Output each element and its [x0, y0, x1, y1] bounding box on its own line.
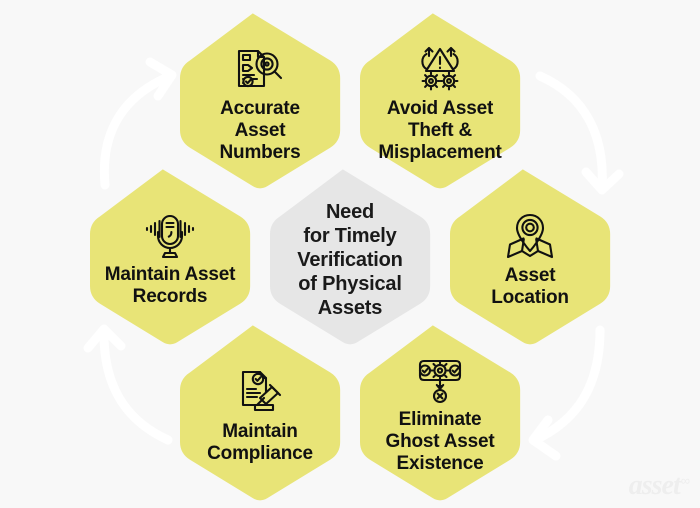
hex-label: Eliminate Ghost Asset Existence [385, 409, 494, 475]
hex-maintain-compliance[interactable]: Maintain Compliance [172, 318, 348, 508]
hex-accurate-asset-numbers[interactable]: Accurate Asset Numbers [172, 6, 348, 202]
center-label: Need for Timely Verification of Physical… [297, 200, 402, 320]
gear-process-cancel-icon [412, 357, 468, 405]
hex-label: Accurate Asset Numbers [220, 98, 301, 164]
map-pin-icon [504, 211, 556, 261]
document-magnifier-icon [234, 44, 286, 94]
infinity-icon: ∞ [681, 474, 690, 487]
warning-gears-icon [413, 44, 467, 94]
hex-label: Maintain Compliance [207, 421, 313, 465]
document-gavel-icon [233, 367, 287, 417]
hex-center-need-for-timely-verification: Need for Timely Verification of Physical… [262, 162, 438, 358]
hex-label: Maintain Asset Records [105, 264, 236, 308]
hex-asset-location[interactable]: Asset Location [442, 162, 618, 358]
watermark-logo: asset ∞ [629, 472, 690, 500]
hex-maintain-asset-records[interactable]: Maintain Asset Records [82, 162, 258, 358]
hex-avoid-asset-theft-misplacement[interactable]: Avoid Asset Theft & Misplacement [352, 6, 528, 202]
hex-eliminate-ghost-asset-existence[interactable]: Eliminate Ghost Asset Existence [352, 318, 528, 508]
watermark-text: asset [629, 472, 680, 500]
infographic-canvas: Accurate Asset Numbers [0, 0, 700, 508]
microphone-icon [141, 212, 199, 260]
hex-label: Asset Location [491, 265, 569, 309]
hex-label: Avoid Asset Theft & Misplacement [378, 98, 501, 164]
